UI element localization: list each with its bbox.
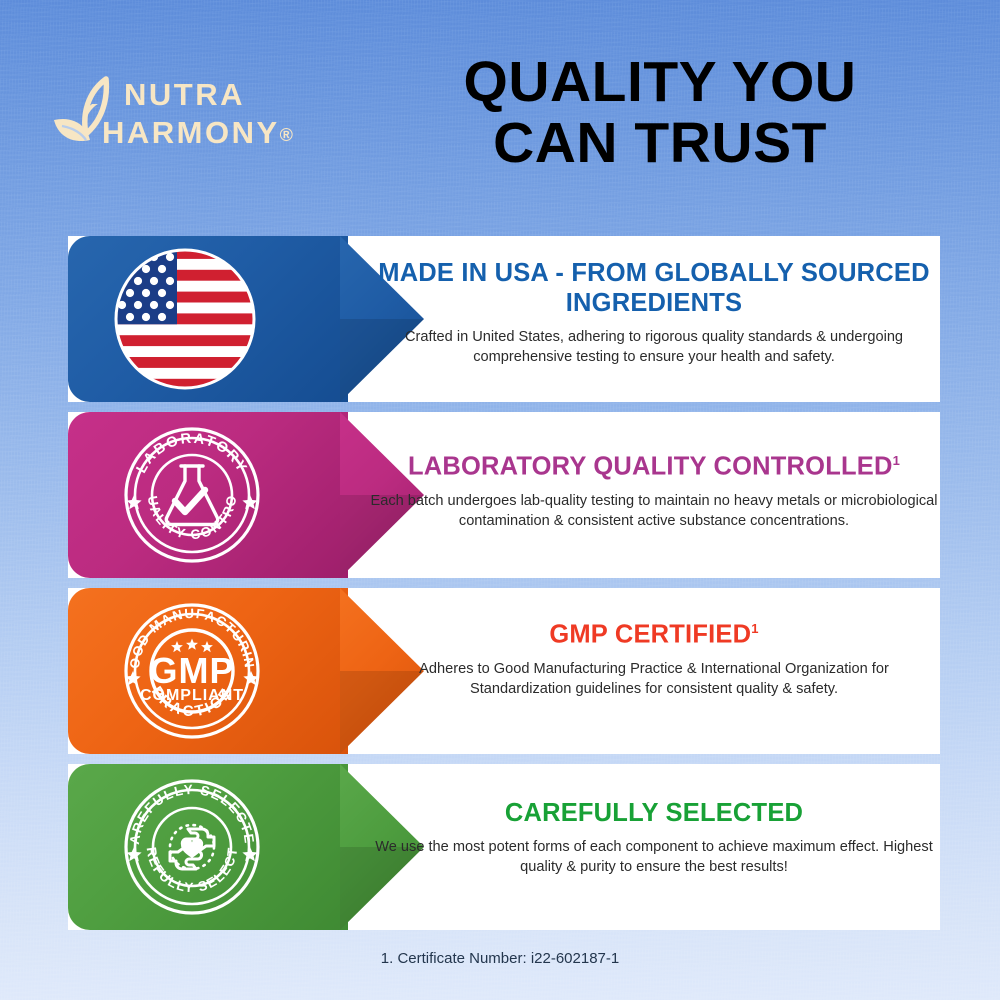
certificate-footnote: 1. Certificate Number: i22-602187-1 (0, 950, 1000, 967)
feature-description: Crafted in United States, adhering to ri… (368, 327, 940, 367)
feature-row-carefully-selected: CAREFULLY SELECTED CAREFULLY SELECTED (68, 764, 940, 930)
registered-mark: ® (280, 125, 293, 145)
feature-description: Adheres to Good Manufacturing Practice &… (368, 659, 940, 699)
gmp-compliant-seal-icon: GOOD MANUFACTURING PRACTICE GMP COMPLIAN… (122, 601, 262, 741)
page-title-line-1: QUALITY YOU (400, 52, 920, 113)
feature-title: CAREFULLY SELECTED (368, 798, 940, 828)
feature-text: CAREFULLY SELECTED We use the most poten… (368, 798, 940, 877)
feature-description: We use the most potent forms of each com… (368, 837, 940, 877)
page-title: QUALITY YOU CAN TRUST (400, 52, 920, 174)
feature-description: Each batch undergoes lab-quality testing… (368, 491, 940, 531)
brand-line-2: HARMONY® (102, 114, 352, 154)
page-title-line-2: CAN TRUST (400, 113, 920, 174)
feature-title: GMP CERTIFIED1 (368, 614, 940, 650)
feature-row-laboratory-quality-controlled: LABORATORY QUALITY CONTROL LABORATORY QU… (68, 412, 940, 578)
brand-logo: NUTRA HARMONY® (48, 72, 368, 168)
laboratory-quality-control-seal-icon: LABORATORY QUALITY CONTROL (122, 425, 262, 565)
usa-flag-circle-icon (114, 248, 256, 390)
footnote-marker: 1 (751, 621, 758, 636)
feature-title: MADE IN USA - FROM GLOBALLY SOURCED INGR… (368, 258, 940, 318)
feature-row-gmp-certified: GOOD MANUFACTURING PRACTICE GMP COMPLIAN… (68, 588, 940, 754)
brand-wordmark: NUTRA HARMONY® (124, 76, 374, 154)
feature-text: MADE IN USA - FROM GLOBALLY SOURCED INGR… (368, 258, 940, 367)
svg-text:COMPLIANT: COMPLIANT (140, 687, 244, 704)
feature-text: LABORATORY QUALITY CONTROLLED1 Each batc… (368, 446, 940, 531)
feature-title: LABORATORY QUALITY CONTROLLED1 (368, 446, 940, 482)
svg-text:LABORATORY: LABORATORY (134, 431, 251, 476)
feature-row-made-in-usa: MADE IN USA - FROM GLOBALLY SOURCED INGR… (68, 236, 940, 402)
brand-line-1: NUTRA (124, 76, 374, 114)
svg-text:CAREFULLY SELECTED: CAREFULLY SELECTED (122, 777, 257, 845)
svg-text:GMP: GMP (149, 650, 234, 691)
footnote-marker: 1 (893, 453, 900, 468)
carefully-selected-seal-icon: CAREFULLY SELECTED CAREFULLY SELECTED (122, 777, 262, 917)
feature-text: GMP CERTIFIED1 Adheres to Good Manufactu… (368, 614, 940, 699)
infographic-stage: NUTRA HARMONY® QUALITY YOU CAN TRUST (0, 0, 1000, 1000)
